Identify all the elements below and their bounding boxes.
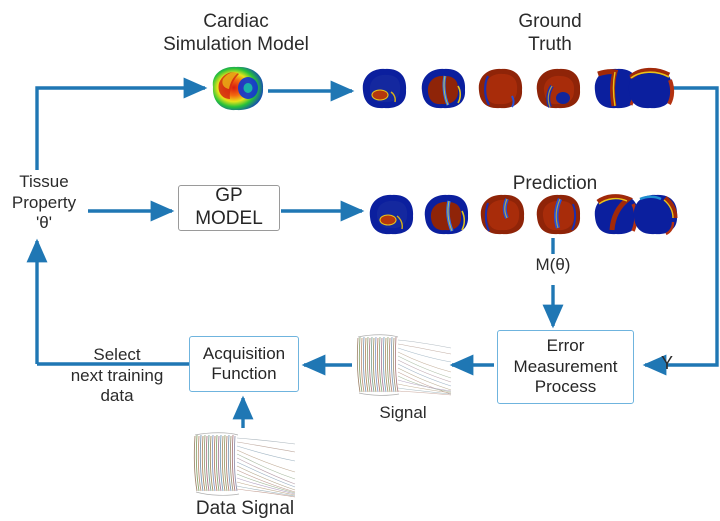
ground-truth-title: Ground Truth — [470, 10, 630, 56]
acquisition-function-label: Acquisition Function — [203, 344, 285, 385]
select-next-training-data-label: Select next training data — [52, 345, 182, 407]
arrow-tissue-to-cardiac-model — [37, 88, 205, 170]
acquisition-function-box[interactable]: Acquisition Function — [189, 336, 299, 392]
m-theta-label: M(θ) — [514, 255, 592, 276]
prediction-slice-1 — [363, 190, 419, 238]
data-signal-plot-figure — [188, 427, 298, 501]
ground-truth-slice-1 — [356, 64, 412, 112]
ground-truth-slice-4 — [530, 64, 586, 112]
prediction-slice-2 — [418, 190, 474, 238]
signal-caption: Signal — [355, 403, 451, 424]
signal-plot-figure — [352, 328, 454, 400]
tissue-property-label: Tissue Property 'θ' — [0, 172, 88, 234]
error-measurement-process-box[interactable]: Error Measurement Process — [497, 330, 634, 404]
ground-truth-slice-3 — [472, 64, 528, 112]
error-measurement-process-label: Error Measurement Process — [514, 336, 618, 397]
prediction-title: Prediction — [493, 172, 617, 195]
prediction-slice-6 — [627, 190, 683, 238]
data-signal-caption: Data Signal — [186, 497, 304, 520]
gp-model-label: GP MODEL — [195, 185, 263, 231]
ground-truth-slice-6 — [622, 64, 678, 112]
ground-truth-slice-2 — [415, 64, 471, 112]
prediction-slice-3 — [474, 190, 530, 238]
prediction-slice-4 — [530, 190, 586, 238]
y-signal-label: Y — [654, 353, 680, 375]
gp-model-box[interactable]: GP MODEL — [178, 185, 280, 231]
cardiac-simulation-mesh-figure — [203, 61, 271, 115]
cardiac-simulation-model-title: Cardiac Simulation Model — [146, 10, 326, 56]
